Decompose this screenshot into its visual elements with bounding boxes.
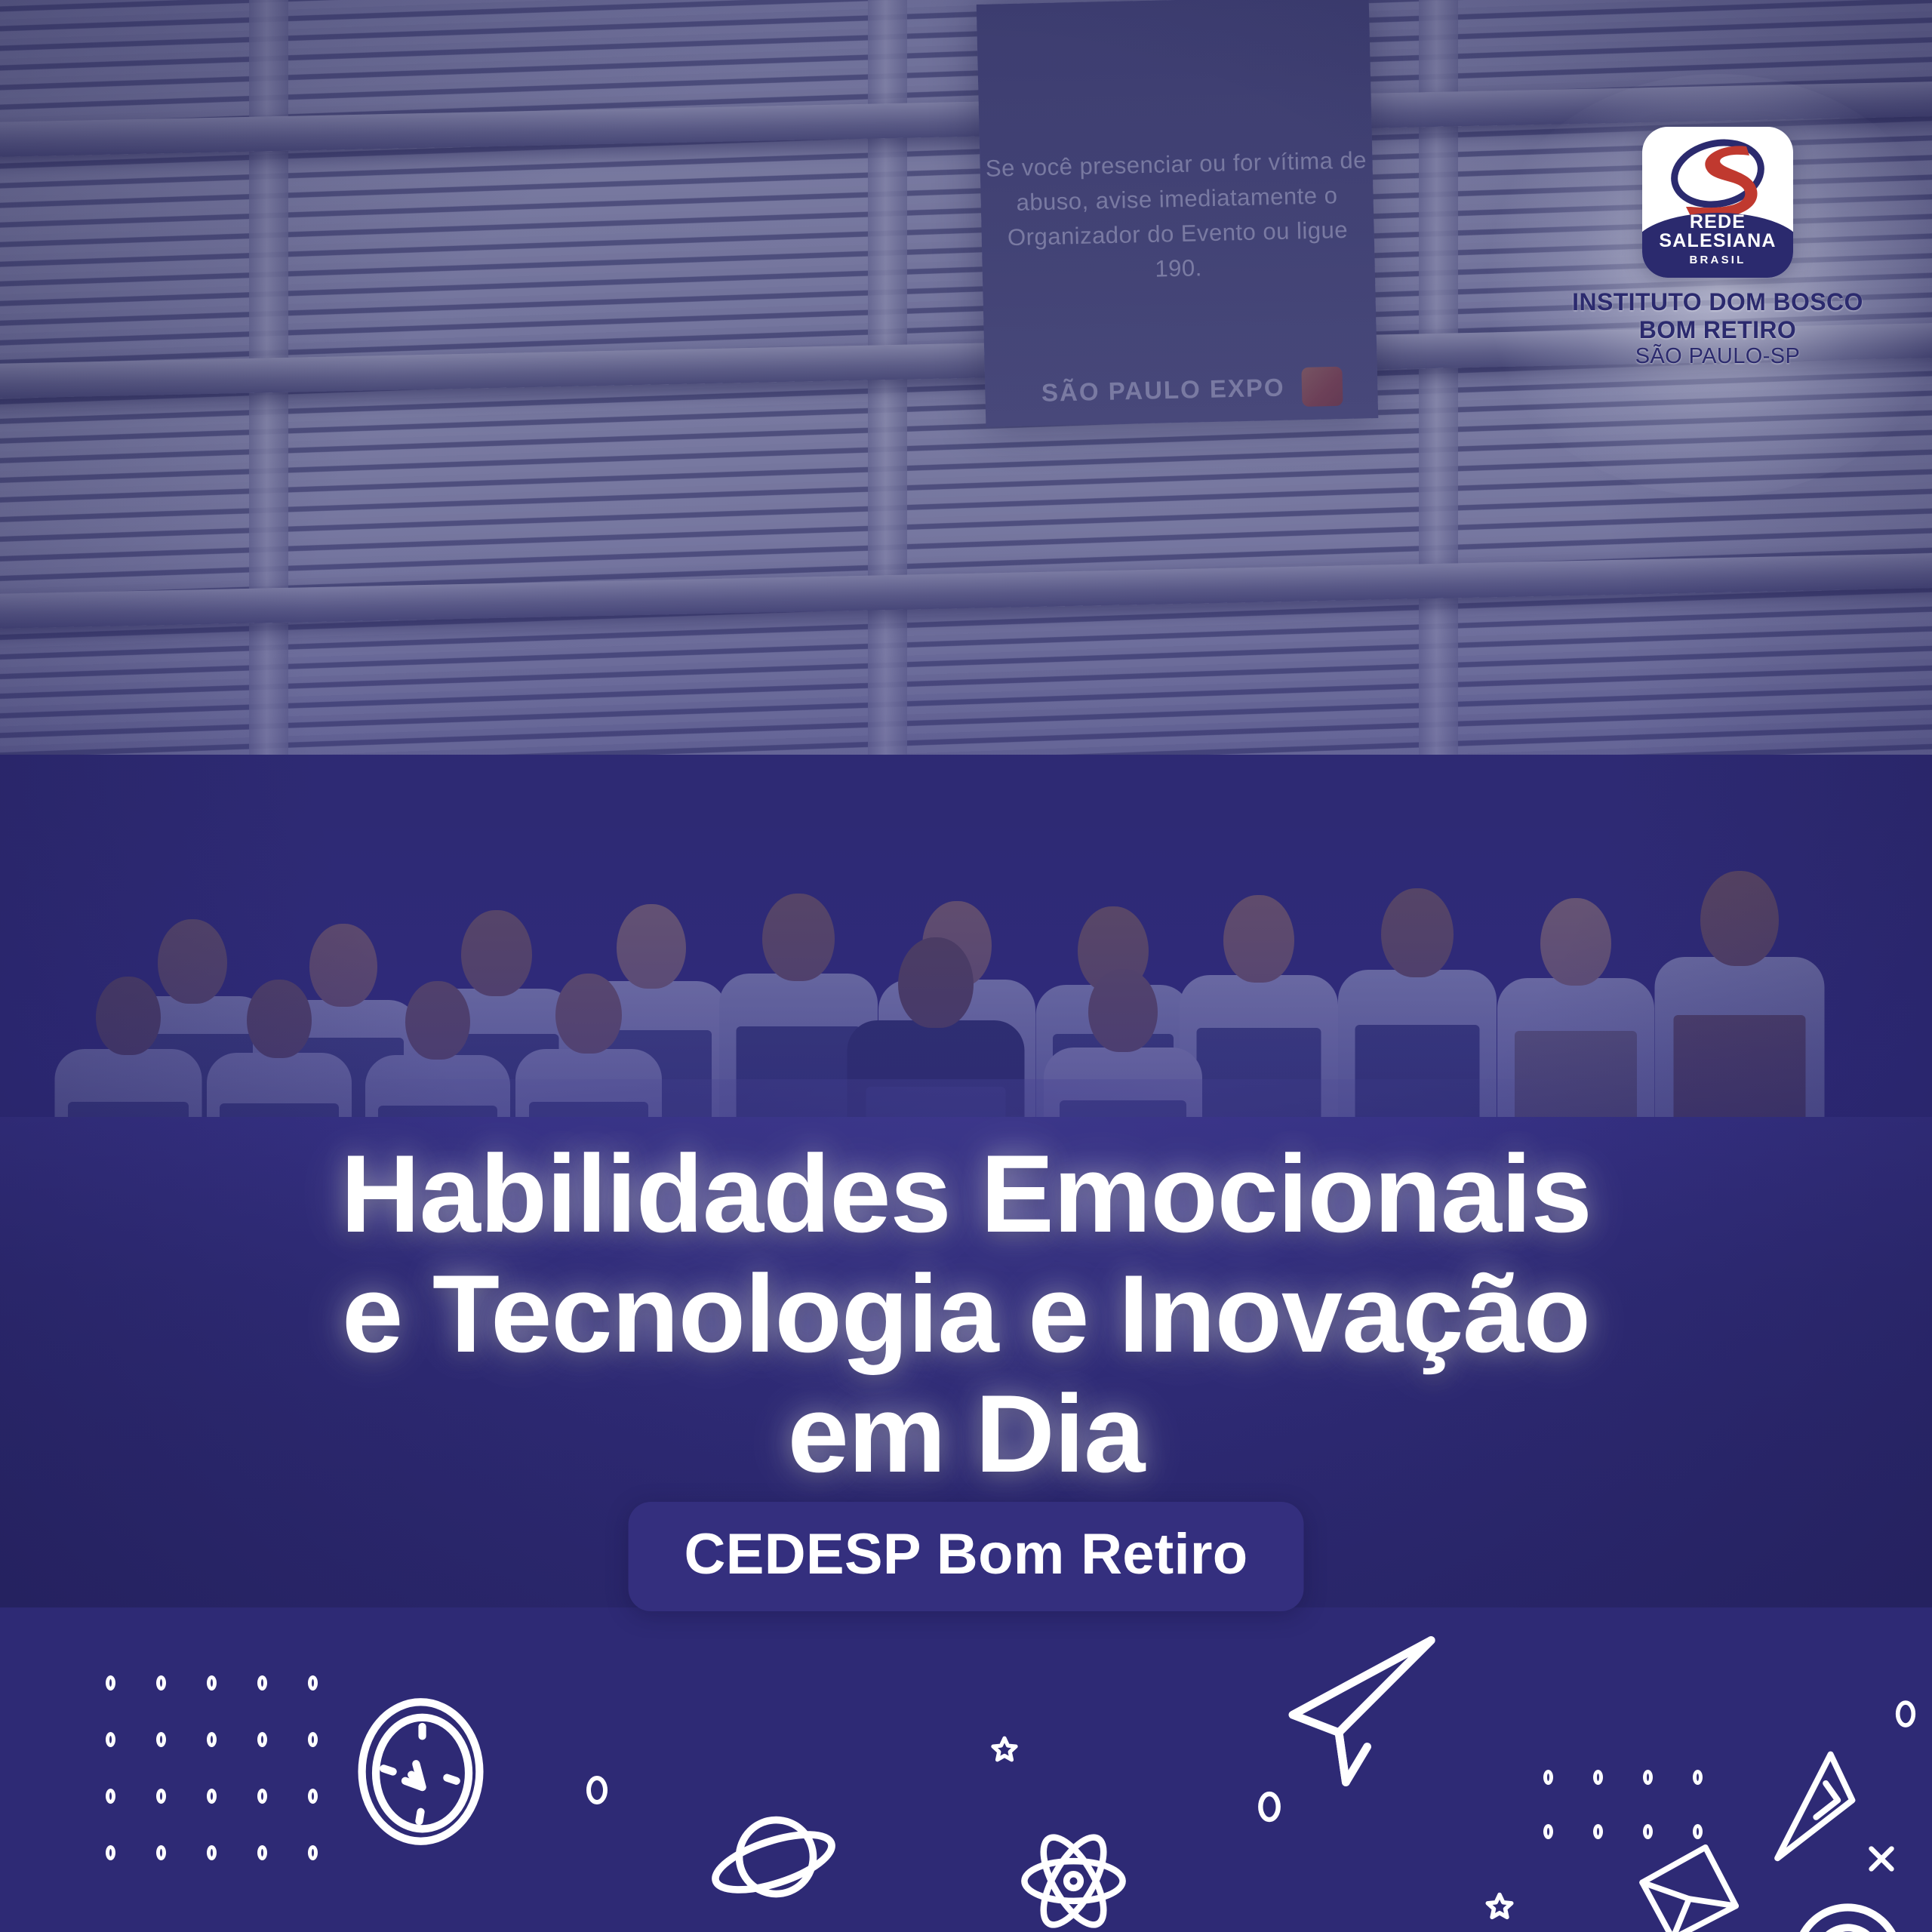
protractor-icon [1781,1875,1921,1932]
sparkle-icon [1864,1841,1899,1876]
grid-dot [106,1789,115,1804]
logo-caption: INSTITUTO DOM BOSCO BOM RETIRO SÃO PAULO… [1570,288,1866,370]
grid-dot [308,1789,318,1804]
grid-dot [207,1732,217,1747]
atom-icon [1015,1819,1132,1932]
envelope-icon [1626,1826,1747,1932]
grid-dot [207,1675,217,1690]
grid-dot [308,1675,318,1690]
decorative-icon-band [0,1607,1932,1932]
grid-dot [308,1845,318,1860]
grid-dot [156,1845,166,1860]
grid-dot [106,1732,115,1747]
title-line-2: e Tecnologia e Inovação [151,1254,1781,1374]
star-icon [989,1734,1020,1766]
grid-dot [1593,1824,1603,1839]
grid-dot [1543,1824,1553,1839]
circle-icon [585,1774,609,1807]
grid-dot [257,1789,267,1804]
grid-dot [156,1732,166,1747]
planet-icon [706,1796,841,1928]
title-line-3: em Dia [151,1374,1781,1494]
star-icon [1483,1890,1516,1924]
grid-dot [106,1845,115,1860]
institution-logo: REDE SALESIANA BRASIL INSTITUTO DOM BOSC… [1570,127,1866,370]
clock-icon [343,1694,498,1849]
grid-dot [257,1845,267,1860]
poster-title: Habilidades Emocionais e Tecnologia e In… [0,1134,1932,1494]
grid-dot [257,1732,267,1747]
logo-caption-line3: SÃO PAULO-SP [1570,344,1866,370]
grid-dot [207,1789,217,1804]
grid-dot [257,1675,267,1690]
dot-grid-left [106,1675,358,1902]
logo-brand-line2: BRASIL [1642,254,1793,266]
grid-dot [156,1789,166,1804]
circle-icon [1894,1698,1917,1730]
grid-dot [1693,1770,1703,1785]
logo-brand-text: REDE SALESIANA BRASIL [1642,213,1793,266]
poster: Se você presenciar ou for vítima de abus… [0,0,1932,1932]
subtitle-badge: CEDESP Bom Retiro [629,1502,1304,1611]
grid-dot [1593,1770,1603,1785]
pencil-icon [1758,1747,1864,1868]
paper-plane-icon [1268,1623,1445,1800]
title-line-1: Habilidades Emocionais [151,1134,1781,1254]
logo-brand-line1: REDE SALESIANA [1642,213,1793,251]
grid-dot [106,1675,115,1690]
logo-caption-line1: INSTITUTO DOM BOSCO [1570,288,1866,316]
grid-dot [1543,1770,1553,1785]
rede-salesiana-logo-card: REDE SALESIANA BRASIL [1642,127,1793,278]
grid-dot [156,1675,166,1690]
grid-dot [1643,1770,1653,1785]
grid-dot [207,1845,217,1860]
grid-dot [308,1732,318,1747]
logo-caption-line2: BOM RETIRO [1570,316,1866,344]
